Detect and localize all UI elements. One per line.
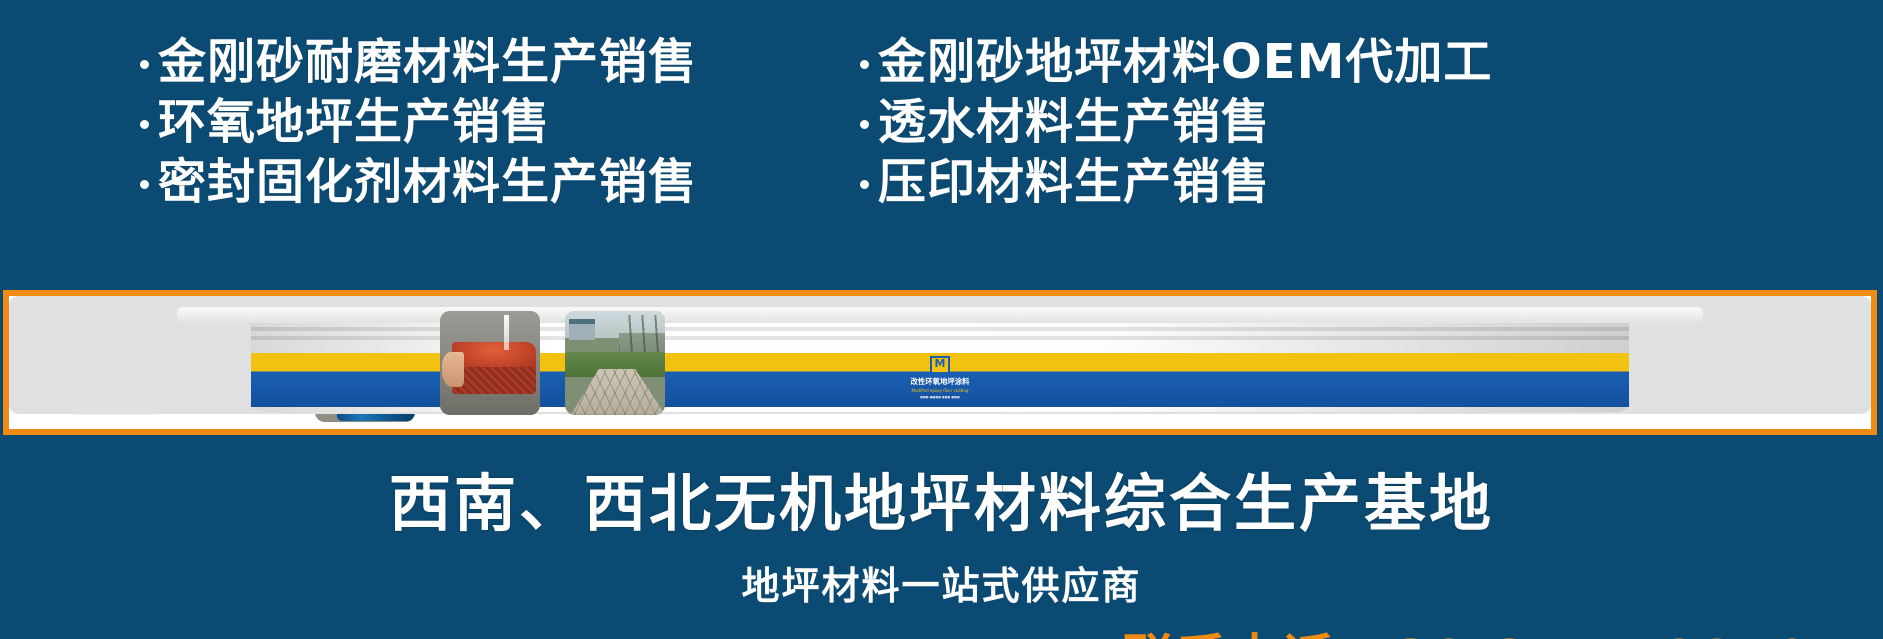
bullet-column-right: 金刚砂地坪材料OEM代加工 透水材料生产销售 压印材料生产销售 [860,34,1760,234]
bullet-item: 环氧地坪生产销售 [140,94,860,150]
service-bullet-lists: 金刚砂耐磨材料生产销售 环氧地坪生产销售 密封固化剂材料生产销售 金刚砂地坪材料… [0,34,1883,234]
bullet-item: 压印材料生产销售 [860,154,1760,210]
product-thumb-permeable-aggregate [440,311,540,415]
water-stream-icon [504,315,509,350]
bullet-label: 压印材料生产销售 [878,154,1270,210]
promo-banner: 金刚砂耐磨材料生产销售 环氧地坪生产销售 密封固化剂材料生产销售 金刚砂地坪材料… [0,0,1883,639]
bullet-label: 环氧地坪生产销售 [158,94,550,150]
pail-label-fineprint: ■■■ ■■■■ ■■■ ■■■ [920,395,960,399]
bullet-item: 密封固化剂材料生产销售 [140,154,860,210]
pail-label-cn: 改性环氧地坪涂料 [911,376,970,386]
bullet-dot-icon [140,60,149,69]
pail-label-en: Modified epoxy floor coating [912,388,969,393]
pail-lid [177,307,1704,324]
hand-icon [442,352,464,387]
bullet-item: 金刚砂耐磨材料生产销售 [140,34,860,90]
aggregate-slab-top [452,342,536,369]
bullet-dot-icon [140,120,149,129]
contact-phone[interactable]: 联系电话:139-8171-2250 [1123,632,1811,639]
brand-m-logo-icon: M [930,356,950,374]
banner-subheadline: 地坪材料一站式供应商 [0,555,1883,610]
bullet-label: 金刚砂地坪材料OEM代加工 [878,34,1492,90]
product-thumb-stamped-walkway [565,311,665,415]
product-thumb-epoxy-coating: M 改性环氧地坪涂料 Modified epoxy floor coating … [9,296,1871,414]
bullet-dot-icon [140,180,149,189]
bullet-item: 金刚砂地坪材料OEM代加工 [860,34,1760,90]
product-thumbnail-row: M 混凝土密封固化剂 Concrete seal curing agent ■■… [65,296,665,429]
aggregate-slab-side [452,367,536,394]
bullet-item: 透水材料生产销售 [860,94,1760,150]
bullet-label: 透水材料生产销售 [878,94,1270,150]
banner-headline: 西南、西北无机地坪材料综合生产基地 [0,453,1883,543]
bullet-dot-icon [860,60,869,69]
product-showcase-strip: M 混凝土密封固化剂 Concrete seal curing agent ■■… [3,290,1877,435]
bullet-label: 金刚砂耐磨材料生产销售 [158,34,697,90]
bullet-column-left: 金刚砂耐磨材料生产销售 环氧地坪生产销售 密封固化剂材料生产销售 [140,34,860,234]
bullet-label: 密封固化剂材料生产销售 [158,154,697,210]
bullet-dot-icon [860,180,869,189]
bullet-dot-icon [860,120,869,129]
walkway-building [569,323,595,340]
